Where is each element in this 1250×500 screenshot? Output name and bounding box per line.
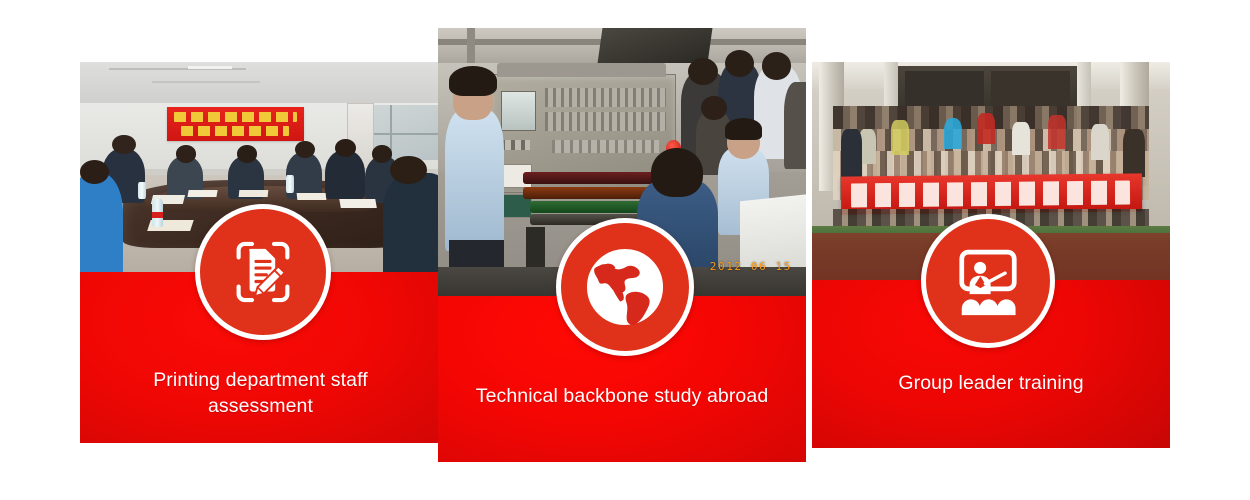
card-caption-text: Technical backbone study abroad (438, 383, 806, 409)
card-caption-text: Group leader training (812, 370, 1170, 396)
document-pencil-icon (195, 204, 331, 340)
card-technical-backbone-study-abroad[interactable]: 2012 06 15 Technical backbone study abro… (438, 28, 806, 462)
globe-icon (556, 218, 694, 356)
card-printing-department-staff-assessment[interactable]: Printing department staff assessment (80, 62, 441, 443)
promo-cards-stage: Printing department staff assessment (0, 0, 1250, 500)
presentation-training-icon (921, 214, 1055, 348)
photo-date-stamp: 2012 06 15 (710, 260, 792, 273)
card-caption-text: Printing department staff assessment (80, 367, 441, 419)
card-group-leader-training[interactable]: Group leader training (812, 62, 1170, 448)
